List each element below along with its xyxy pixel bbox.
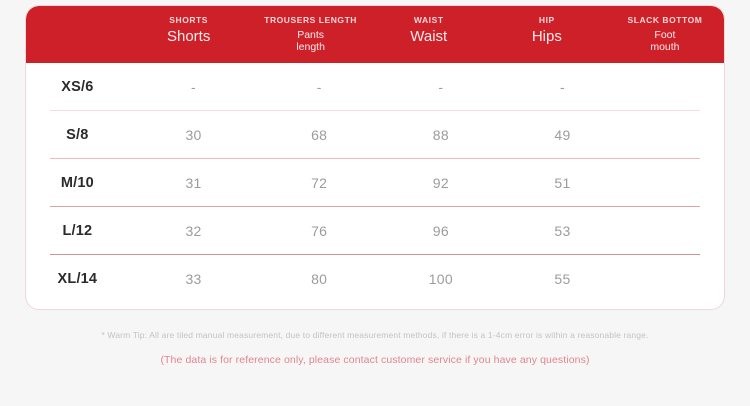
header-native-hip: Hips	[532, 29, 562, 45]
row-hip-value: 96	[380, 223, 502, 239]
row-waist-value: 76	[258, 223, 380, 239]
row-slack-bottom-value: 55	[502, 271, 624, 287]
header-cell-shorts: SHORTS Shorts	[126, 6, 252, 63]
row-trousers-length-value: 33	[129, 271, 259, 287]
row-slack-bottom-value: 51	[502, 175, 624, 191]
table-row: S/8 30 68 88 49	[26, 111, 724, 158]
row-trousers-length-value: 32	[129, 223, 259, 239]
header-cell-hip: HIP Hips	[488, 6, 606, 63]
header-en-slack-bottom: SLACK BOTTOM	[627, 15, 702, 26]
row-waist-value: 68	[258, 127, 380, 143]
row-size-label: XS/6	[26, 79, 129, 95]
row-waist-value: -	[258, 79, 380, 95]
size-chart-notes: * Warm Tip: All are tiled manual measure…	[0, 312, 750, 368]
row-size-label: L/12	[26, 223, 129, 239]
table-row: XL/14 33 80 100 55	[26, 255, 724, 302]
header-en-shorts: SHORTS	[169, 15, 208, 26]
header-cell-size	[26, 6, 126, 63]
header-native-shorts: Shorts	[167, 29, 210, 45]
table-row: M/10 31 72 92 51	[26, 159, 724, 206]
row-slack-bottom-value: 49	[502, 127, 624, 143]
header-native-slack-bottom: Foot mouth	[650, 30, 679, 53]
size-chart-card: SHORTS Shorts TROUSERS LENGTH Pants leng…	[25, 5, 725, 310]
header-native-slack-bottom-line1: Foot	[654, 29, 675, 41]
row-waist-value: 80	[258, 271, 380, 287]
header-cell-trousers-length: TROUSERS LENGTH Pants length	[252, 6, 370, 63]
row-hip-value: -	[380, 79, 502, 95]
row-trousers-length-value: 30	[129, 127, 259, 143]
size-chart-body: XS/6 - - - - S/8 30 68 88 49 M/10 31 72 …	[26, 63, 724, 302]
header-en-trousers-length: TROUSERS LENGTH	[264, 15, 357, 26]
warm-tip-text: * Warm Tip: All are tiled manual measure…	[0, 312, 750, 342]
header-en-waist: WAIST	[414, 15, 444, 26]
table-row: XS/6 - - - -	[26, 63, 724, 110]
row-slack-bottom-value: -	[502, 79, 624, 95]
header-native-waist: Waist	[410, 29, 447, 45]
header-native-trousers-length: Pants length	[296, 30, 325, 53]
row-slack-bottom-value: 53	[502, 223, 624, 239]
header-en-hip: HIP	[539, 15, 555, 26]
header-native-trousers-length-line2: length	[296, 41, 325, 53]
row-trousers-length-value: 31	[129, 175, 259, 191]
row-hip-value: 92	[380, 175, 502, 191]
row-size-label: S/8	[26, 127, 129, 143]
row-size-label: M/10	[26, 175, 129, 191]
header-cell-waist: WAIST Waist	[370, 6, 488, 63]
header-native-trousers-length-line1: Pants	[297, 29, 324, 41]
reference-note-text: (The data is for reference only, please …	[0, 342, 750, 368]
table-row: L/12 32 76 96 53	[26, 207, 724, 254]
row-hip-value: 100	[380, 271, 502, 287]
header-native-slack-bottom-line2: mouth	[650, 41, 679, 53]
size-chart-header-row: SHORTS Shorts TROUSERS LENGTH Pants leng…	[26, 6, 724, 63]
row-trousers-length-value: -	[129, 79, 259, 95]
row-waist-value: 72	[258, 175, 380, 191]
row-hip-value: 88	[380, 127, 502, 143]
header-cell-slack-bottom: SLACK BOTTOM Foot mouth	[606, 6, 724, 63]
row-size-label: XL/14	[26, 271, 129, 287]
